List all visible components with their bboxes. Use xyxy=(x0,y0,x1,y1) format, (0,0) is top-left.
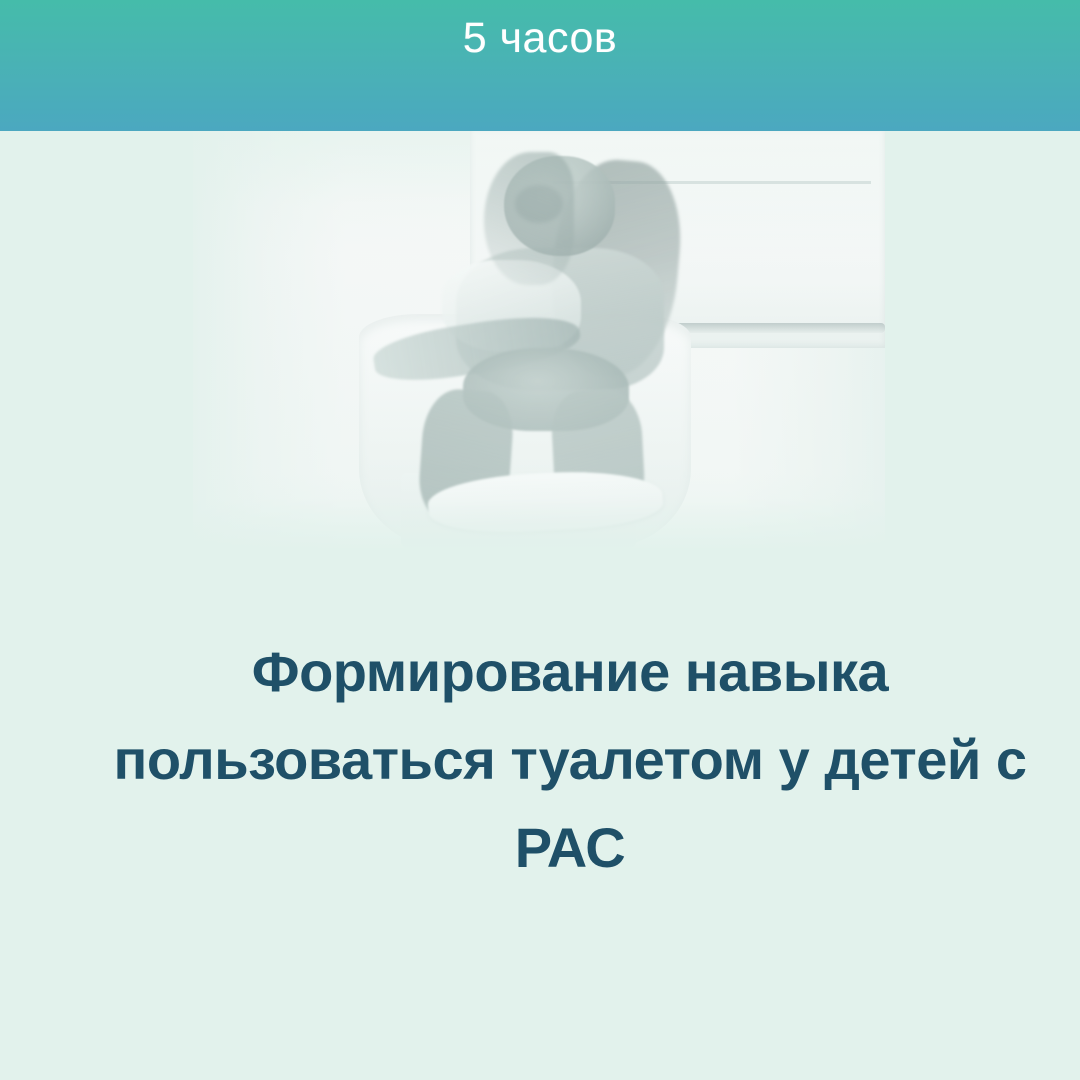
course-title-line-1: Формирование навыка xyxy=(30,628,1080,716)
course-duration-banner: 5 часов xyxy=(0,0,1080,131)
course-title: Формирование навыка пользоваться туалето… xyxy=(0,628,1080,892)
course-hero-image xyxy=(193,131,885,548)
course-title-line-3: РАС xyxy=(30,804,1080,892)
course-title-line-2: пользоваться туалетом у детей с xyxy=(30,716,1080,804)
photo-child-hair-front xyxy=(484,152,574,285)
course-card: 5 часов Формирование навыка пользоваться… xyxy=(0,0,1080,1080)
course-duration-label: 5 часов xyxy=(463,15,617,62)
